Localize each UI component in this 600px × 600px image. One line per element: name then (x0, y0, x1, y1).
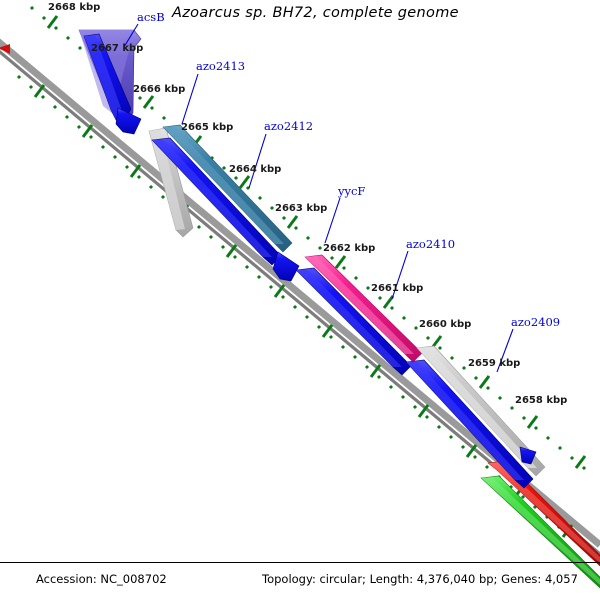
gene-arrow-azo2409[interactable] (406, 360, 533, 488)
tick-label-2667: 2667 kbp (91, 43, 143, 54)
tick-label-2662: 2662 kbp (323, 243, 375, 254)
genome-map-canvas[interactable] (0, 0, 600, 600)
leader-azo2412 (249, 134, 266, 188)
tick-label-2668: 2668 kbp (48, 2, 100, 13)
tick-label-2665: 2665 kbp (181, 122, 233, 133)
tick-label-2666: 2666 kbp (133, 84, 185, 95)
tick-label-2661: 2661 kbp (371, 283, 423, 294)
leader-azo2413 (182, 74, 198, 124)
genome-map-viewer: Azoarcus sp. BH72, complete genome acsB … (0, 0, 600, 600)
footer-divider (0, 562, 600, 563)
genome-summary-text: Topology: circular; Length: 4,376,040 bp… (262, 572, 578, 586)
tick-label-2663: 2663 kbp (275, 203, 327, 214)
page-title: Azoarcus sp. BH72, complete genome (172, 5, 459, 21)
tick-label-2659: 2659 kbp (468, 358, 520, 369)
accession-text: Accession: NC_008702 (36, 572, 167, 586)
gene-label-azo2412[interactable]: azo2412 (264, 119, 313, 133)
gene-label-azo2410[interactable]: azo2410 (406, 237, 455, 251)
scale-tick-track (18, 76, 572, 538)
feature-band-rrna-red[interactable] (488, 461, 600, 566)
gene-label-azo2413[interactable]: azo2413 (196, 59, 245, 73)
gene-label-acsB[interactable]: acsB (137, 10, 165, 24)
gene-label-yycF[interactable]: yycF (338, 184, 365, 198)
tick-label-2660: 2660 kbp (419, 319, 471, 330)
tick-label-2664: 2664 kbp (229, 164, 281, 175)
gene-label-azo2409[interactable]: azo2409 (511, 315, 560, 329)
tick-label-2658: 2658 kbp (515, 395, 567, 406)
